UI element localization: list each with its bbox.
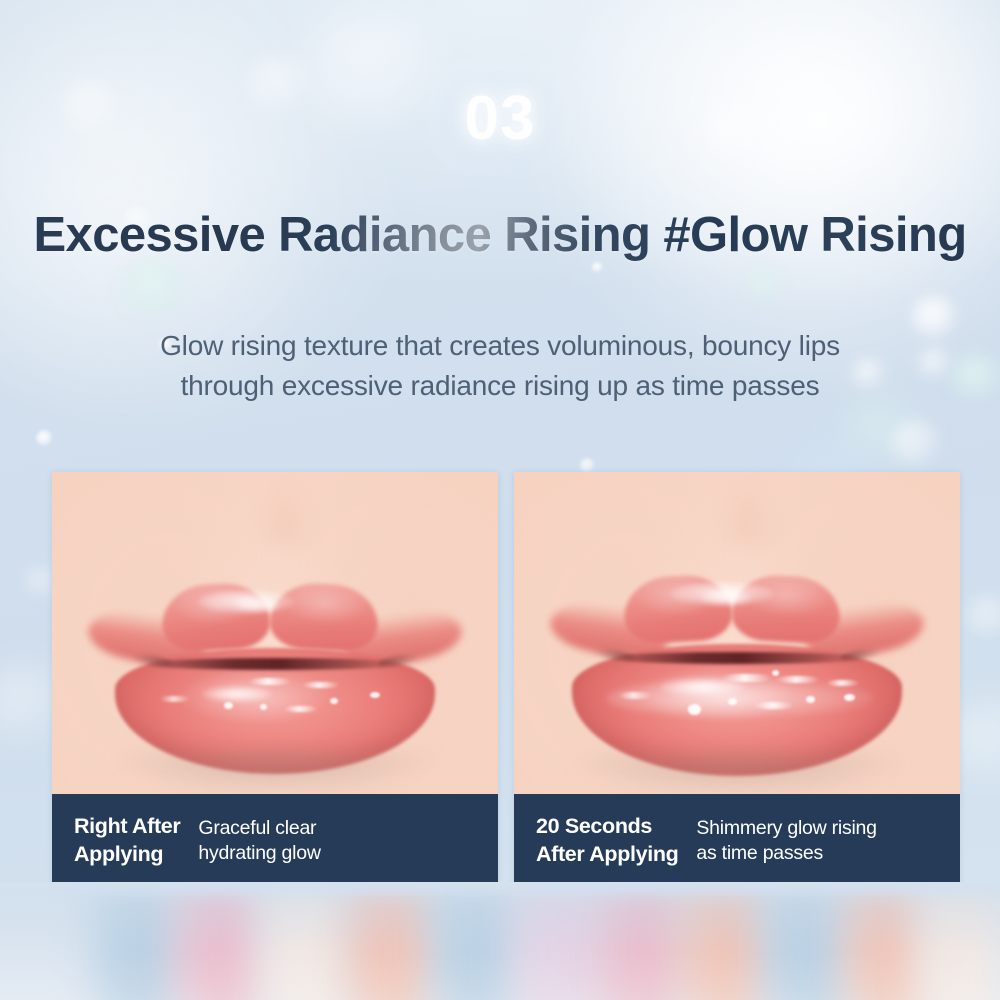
subtitle-line-2: through excessive radiance rising up as … [0, 366, 1000, 406]
caption-title-line-2: Applying [74, 842, 163, 866]
panel-caption: Right After Applying Graceful clear hydr… [52, 794, 498, 888]
mouth-line [144, 658, 406, 670]
promo-page: 03 Excessive Radiance Rising #Glow Risin… [0, 0, 1000, 1000]
bokeh-dot [966, 596, 1000, 638]
bokeh-dot [36, 430, 53, 447]
lip-gloss-highlight [826, 680, 860, 686]
blurred-product [262, 882, 348, 1000]
caption-description: Graceful clear hydrating glow [198, 816, 320, 867]
caption-desc-line-2: as time passes [696, 842, 823, 864]
caption-desc-line-1: Shimmery glow rising [696, 817, 876, 839]
blurred-product [434, 882, 520, 1000]
comparison-panels: Right After Applying Graceful clear hydr… [52, 472, 960, 888]
lip-gloss-highlight [224, 702, 233, 709]
strip-fade-overlay [0, 882, 1000, 1000]
subtitle: Glow rising texture that creates volumin… [0, 326, 1000, 406]
blurred-product [682, 882, 768, 1000]
philtrum-shadow [257, 472, 315, 542]
bokeh-dot [592, 262, 603, 273]
bokeh-dot [118, 258, 192, 320]
lip-gloss-highlight [772, 670, 779, 676]
bokeh-dot [744, 266, 784, 304]
lip-gloss-highlight [806, 696, 815, 703]
blurred-product [846, 882, 932, 1000]
lip-gloss-highlight [618, 692, 652, 699]
caption-title: Right After Applying [74, 813, 180, 868]
page-title: Excessive Radiance Rising #Glow Rising [0, 209, 1000, 262]
blurred-product [516, 882, 602, 1000]
lip-gloss-highlight [844, 694, 855, 701]
lip-gloss-highlight [754, 702, 794, 709]
blurred-product-lineup [0, 882, 1000, 1000]
comparison-panel-right-after-applying: Right After Applying Graceful clear hydr… [52, 472, 498, 888]
philtrum-shadow [719, 472, 777, 542]
lip-gloss-highlight [722, 674, 772, 682]
lip-gloss-highlight [330, 698, 338, 704]
lip-photo-20-seconds-after-applying [514, 472, 960, 794]
lip-photo-right-after-applying [52, 472, 498, 794]
caption-title-line-1: 20 Seconds [536, 814, 652, 838]
lip-gloss-highlight [248, 678, 292, 685]
blurred-product [598, 882, 684, 1000]
caption-description: Shimmery glow rising as time passes [696, 816, 876, 867]
caption-title-line-2: After Applying [536, 842, 678, 866]
blurred-product [764, 882, 850, 1000]
bokeh-dot [836, 396, 928, 468]
caption-title-line-1: Right After [74, 814, 180, 838]
strip-background [0, 882, 1000, 1000]
comparison-panel-20-seconds-after-applying: 20 Seconds After Applying Shimmery glow … [514, 472, 960, 888]
lip-gloss-highlight [688, 704, 701, 715]
step-number: 03 [0, 88, 1000, 150]
lip-gloss-highlight [234, 598, 280, 612]
mouth-line [606, 652, 868, 664]
bokeh-dot [580, 458, 595, 473]
lip-gloss-highlight [302, 682, 340, 688]
lip-gloss-highlight [776, 676, 820, 683]
lip-gloss-highlight [370, 692, 380, 698]
subtitle-line-1: Glow rising texture that creates volumin… [0, 326, 1000, 366]
lip-gloss-highlight [202, 686, 272, 702]
caption-title: 20 Seconds After Applying [536, 813, 678, 868]
lip-gloss-highlight [284, 706, 318, 712]
blurred-product [178, 882, 264, 1000]
lip-gloss-highlight [728, 698, 737, 705]
upper-lip-lobe-right [268, 581, 379, 653]
bokeh-dot [890, 420, 942, 468]
blurred-product [916, 882, 1000, 1000]
caption-desc-line-1: Graceful clear [198, 817, 316, 839]
lip-gloss-highlight [160, 696, 190, 702]
caption-desc-line-2: hydrating glow [198, 842, 320, 864]
lip-gloss-highlight [700, 590, 752, 605]
panel-caption: 20 Seconds After Applying Shimmery glow … [514, 794, 960, 888]
blurred-product [96, 882, 182, 1000]
blurred-product [348, 882, 434, 1000]
lip-gloss-highlight [260, 704, 267, 710]
